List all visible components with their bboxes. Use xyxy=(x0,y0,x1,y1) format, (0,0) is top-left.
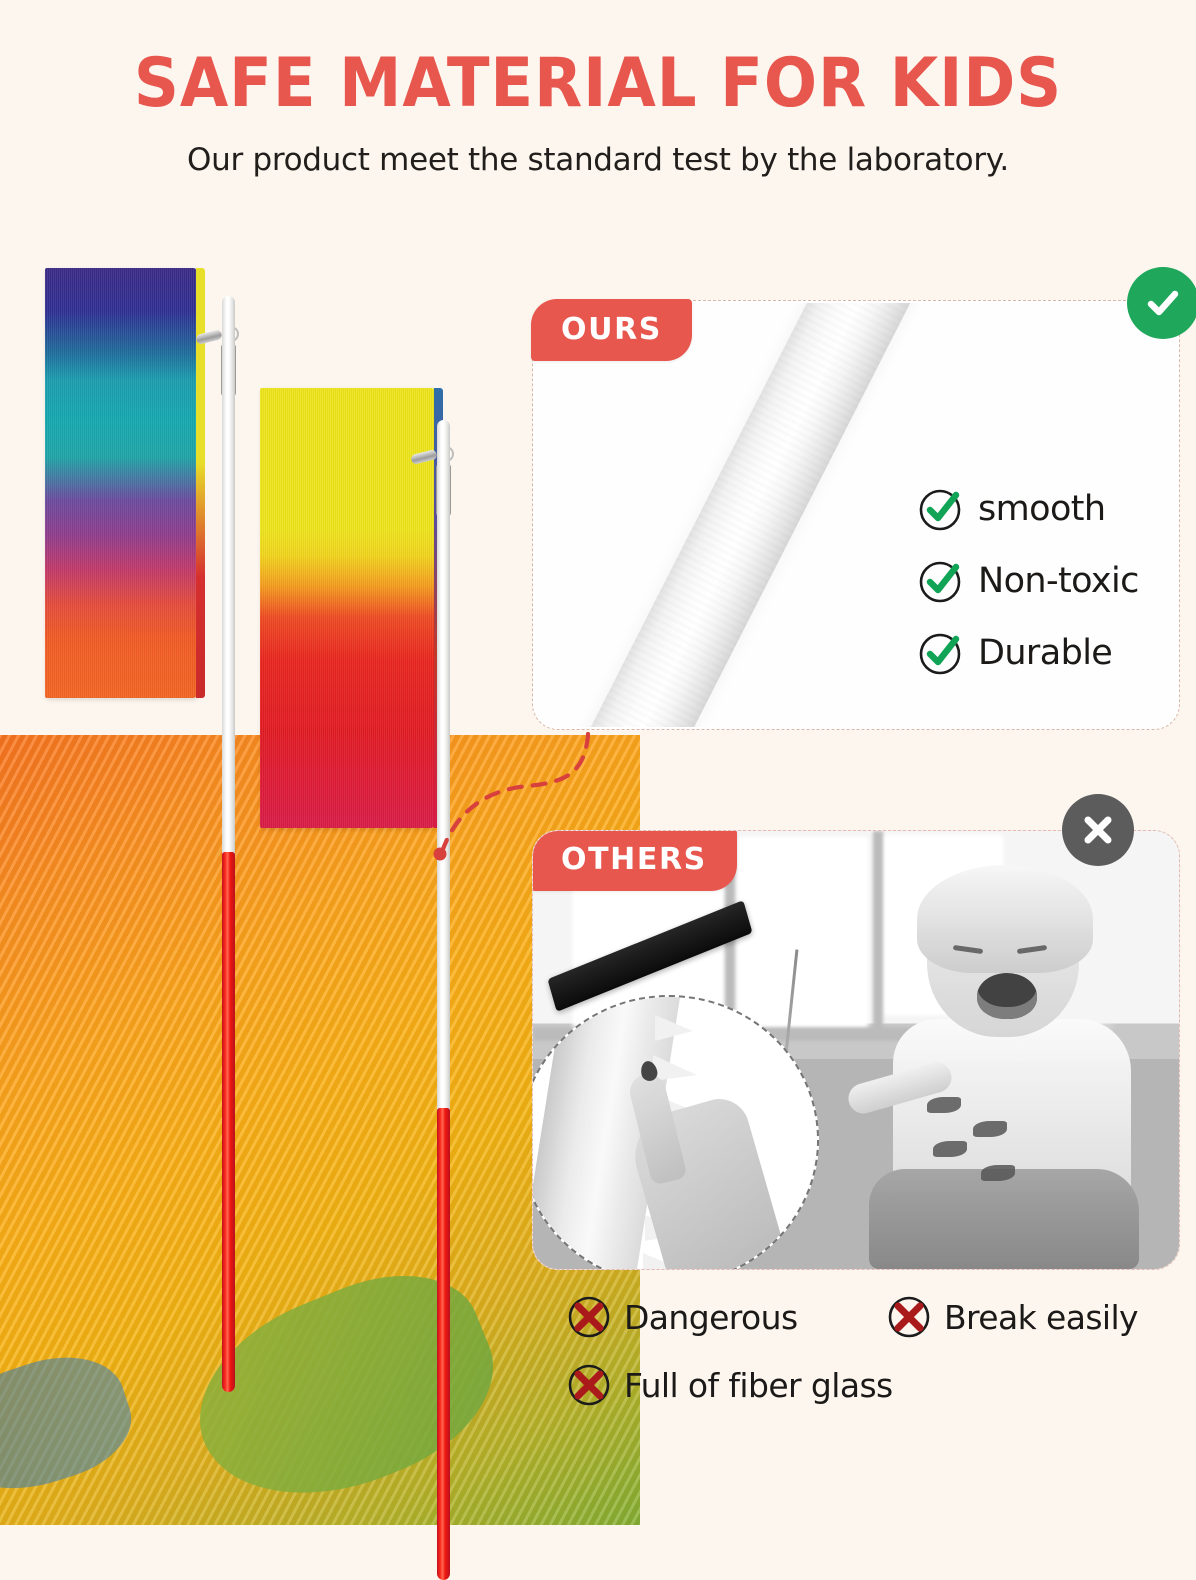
list-item: Non-toxic xyxy=(916,556,1186,606)
ribbon-texture xyxy=(45,268,197,698)
yellow-red-ribbon xyxy=(260,388,435,828)
page-subtitle: Our product meet the standard test by th… xyxy=(0,142,1196,178)
page-title: SAFE MATERIAL FOR KIDS xyxy=(48,44,1148,123)
fish-print xyxy=(981,1165,1015,1181)
rainbow-ribbon xyxy=(45,268,197,698)
others-panel: OTHERS xyxy=(532,830,1180,1270)
ribbon-wand-two xyxy=(437,420,450,1580)
feature-label: Break easily xyxy=(944,1298,1138,1337)
circle-cross-icon xyxy=(886,1294,932,1340)
circle-cross-icon xyxy=(566,1294,612,1340)
check-icon xyxy=(1127,267,1196,339)
wand-red-handle xyxy=(222,852,235,1392)
ours-badge: OURS xyxy=(531,299,692,361)
ribbon-texture xyxy=(260,388,435,828)
others-badge: OTHERS xyxy=(532,830,737,891)
child-pants xyxy=(869,1169,1139,1269)
list-item: Dangerous xyxy=(566,1294,886,1340)
feature-label: Full of fiber glass xyxy=(624,1366,893,1405)
list-item: Full of fiber glass xyxy=(566,1362,1186,1408)
infographic-canvas: SAFE MATERIAL FOR KIDS Our product meet … xyxy=(0,0,1196,1500)
ribbon-wand-one xyxy=(222,296,235,1392)
others-product-photo xyxy=(533,831,1179,1269)
circle-check-icon xyxy=(916,556,966,606)
check-glyph xyxy=(1141,281,1185,325)
list-item: Durable xyxy=(916,628,1186,678)
feature-label: Non-toxic xyxy=(978,561,1139,601)
others-feature-list: Dangerous Break easily xyxy=(566,1294,1186,1430)
fish-print xyxy=(933,1141,967,1157)
connector-dot xyxy=(434,848,447,861)
smooth-rod-closeup xyxy=(535,303,935,727)
wand-red-handle xyxy=(437,1108,450,1580)
ours-feature-list: smooth Non-toxic Durable xyxy=(916,484,1186,700)
feature-label: smooth xyxy=(978,489,1105,529)
child-hair xyxy=(917,865,1093,973)
wand-rod xyxy=(222,296,235,866)
cross-glyph xyxy=(1076,808,1120,852)
header: SAFE MATERIAL FOR KIDS Our product meet … xyxy=(0,0,1196,210)
fish-print xyxy=(927,1097,961,1113)
splinter-closeup-inset xyxy=(532,995,819,1270)
circle-cross-icon xyxy=(566,1362,612,1408)
circle-check-icon xyxy=(916,484,966,534)
fish-print xyxy=(973,1121,1007,1137)
feature-label: Durable xyxy=(978,633,1112,673)
child-mouth xyxy=(977,973,1037,1019)
cross-icon xyxy=(1062,794,1134,866)
crying-child-photo xyxy=(841,869,1171,1269)
circle-check-icon xyxy=(916,628,966,678)
list-item: smooth xyxy=(916,484,1186,534)
list-item: Break easily xyxy=(886,1294,1186,1340)
feature-label: Dangerous xyxy=(624,1298,798,1337)
